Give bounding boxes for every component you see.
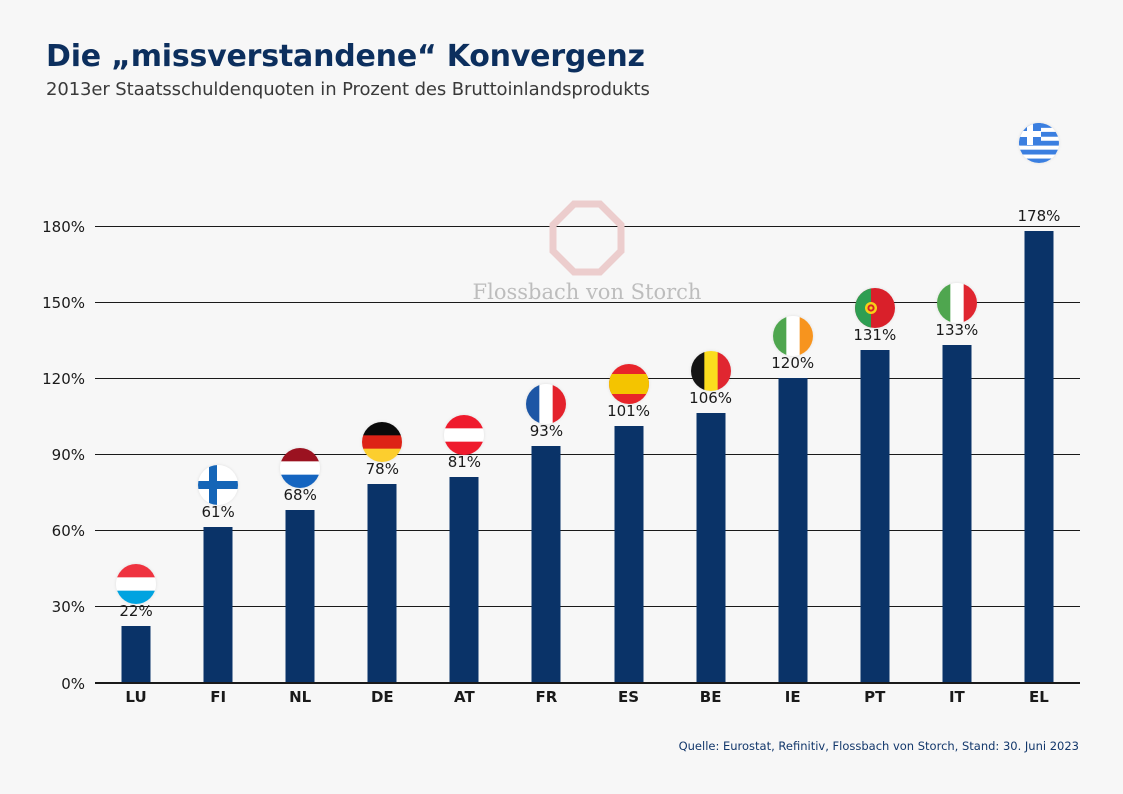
bar-group-fr[interactable]: 93% [505, 120, 587, 682]
y-axis-tick-label: 30% [52, 598, 85, 616]
bar-value-label: 22% [119, 602, 152, 620]
x-axis-tick-nl: NL [259, 688, 341, 706]
flag-greece-icon [1019, 123, 1059, 163]
bar-value-label: 133% [935, 321, 978, 339]
x-axis-tick-at: AT [423, 688, 505, 706]
bar-group-lu[interactable]: 22% [95, 120, 177, 682]
bar[interactable] [1024, 231, 1053, 682]
flag-france-icon [526, 384, 566, 424]
bar[interactable] [860, 350, 889, 682]
bar-group-at[interactable]: 81% [423, 120, 505, 682]
flag-netherlands-icon [280, 448, 320, 488]
bar-group-be[interactable]: 106% [670, 120, 752, 682]
x-axis-tick-el: EL [998, 688, 1080, 706]
y-axis-tick-label: 90% [52, 446, 85, 464]
bar[interactable] [368, 484, 397, 682]
flag-portugal-icon [855, 288, 895, 328]
x-axis-tick-es: ES [588, 688, 670, 706]
bar-value-label: 131% [853, 326, 896, 344]
bar-group-nl[interactable]: 68% [259, 120, 341, 682]
bar-value-label: 178% [1017, 207, 1060, 225]
bar-group-de[interactable]: 78% [341, 120, 423, 682]
bar-group-fi[interactable]: 61% [177, 120, 259, 682]
bar-value-label: 120% [771, 354, 814, 372]
bar-group-ie[interactable]: 120% [752, 120, 834, 682]
source-note: Quelle: Eurostat, Refinitiv, Flossbach v… [679, 739, 1079, 753]
bar-group-pt[interactable]: 131% [834, 120, 916, 682]
bar-value-label: 106% [689, 389, 732, 407]
bar-value-label: 101% [607, 402, 650, 420]
x-axis-tick-de: DE [341, 688, 423, 706]
flag-austria-icon [444, 415, 484, 455]
bar-value-label: 61% [201, 503, 234, 521]
flag-italy-icon [937, 283, 977, 323]
bar-value-label: 81% [448, 453, 481, 471]
y-axis-tick-label: 120% [42, 370, 85, 388]
bar[interactable] [696, 413, 725, 682]
x-axis-tick-be: BE [670, 688, 752, 706]
y-axis-tick-label: 150% [42, 294, 85, 312]
bar-group-el[interactable]: 178% [998, 120, 1080, 682]
page-subtitle: 2013er Staatsschuldenquoten in Prozent d… [46, 79, 1076, 100]
bar-series: 22%61%68%78%81%93%101%106%120%131%133%17… [95, 120, 1080, 682]
x-axis-tick-lu: LU [95, 688, 177, 706]
flag-spain-icon [609, 364, 649, 404]
x-axis-tick-it: IT [916, 688, 998, 706]
bar[interactable] [942, 345, 971, 682]
bar[interactable] [532, 446, 561, 682]
flag-luxembourg-icon [116, 564, 156, 604]
bar-group-es[interactable]: 101% [588, 120, 670, 682]
flag-belgium-icon [691, 351, 731, 391]
y-axis-tick-label: 60% [52, 522, 85, 540]
plot-area: 0%30%60%90%120%150%180% Flossbach von St… [95, 120, 1080, 682]
page-title: Die „missverstandene“ Konvergenz [46, 40, 1076, 73]
flag-germany-icon [362, 422, 402, 462]
bar-value-label: 78% [366, 460, 399, 478]
x-axis-tick-fi: FI [177, 688, 259, 706]
bar[interactable] [122, 626, 151, 682]
x-axis-tick-ie: IE [752, 688, 834, 706]
bar[interactable] [450, 477, 479, 682]
flag-ireland-icon [773, 316, 813, 356]
bar-value-label: 93% [530, 422, 563, 440]
flag-finland-icon [198, 465, 238, 505]
bar-value-label: 68% [284, 486, 317, 504]
x-axis-tick-fr: FR [505, 688, 587, 706]
bar[interactable] [204, 527, 233, 682]
bar-group-it[interactable]: 133% [916, 120, 998, 682]
bar[interactable] [614, 426, 643, 682]
bar[interactable] [778, 378, 807, 682]
x-axis-tick-pt: PT [834, 688, 916, 706]
bar[interactable] [286, 510, 315, 682]
y-axis-tick-label: 180% [42, 218, 85, 236]
x-axis: LUFINLDEATFRESBEIEPTITEL [95, 684, 1080, 714]
chart-header: Die „missverstandene“ Konvergenz 2013er … [46, 40, 1076, 100]
y-axis-tick-label: 0% [61, 675, 85, 693]
